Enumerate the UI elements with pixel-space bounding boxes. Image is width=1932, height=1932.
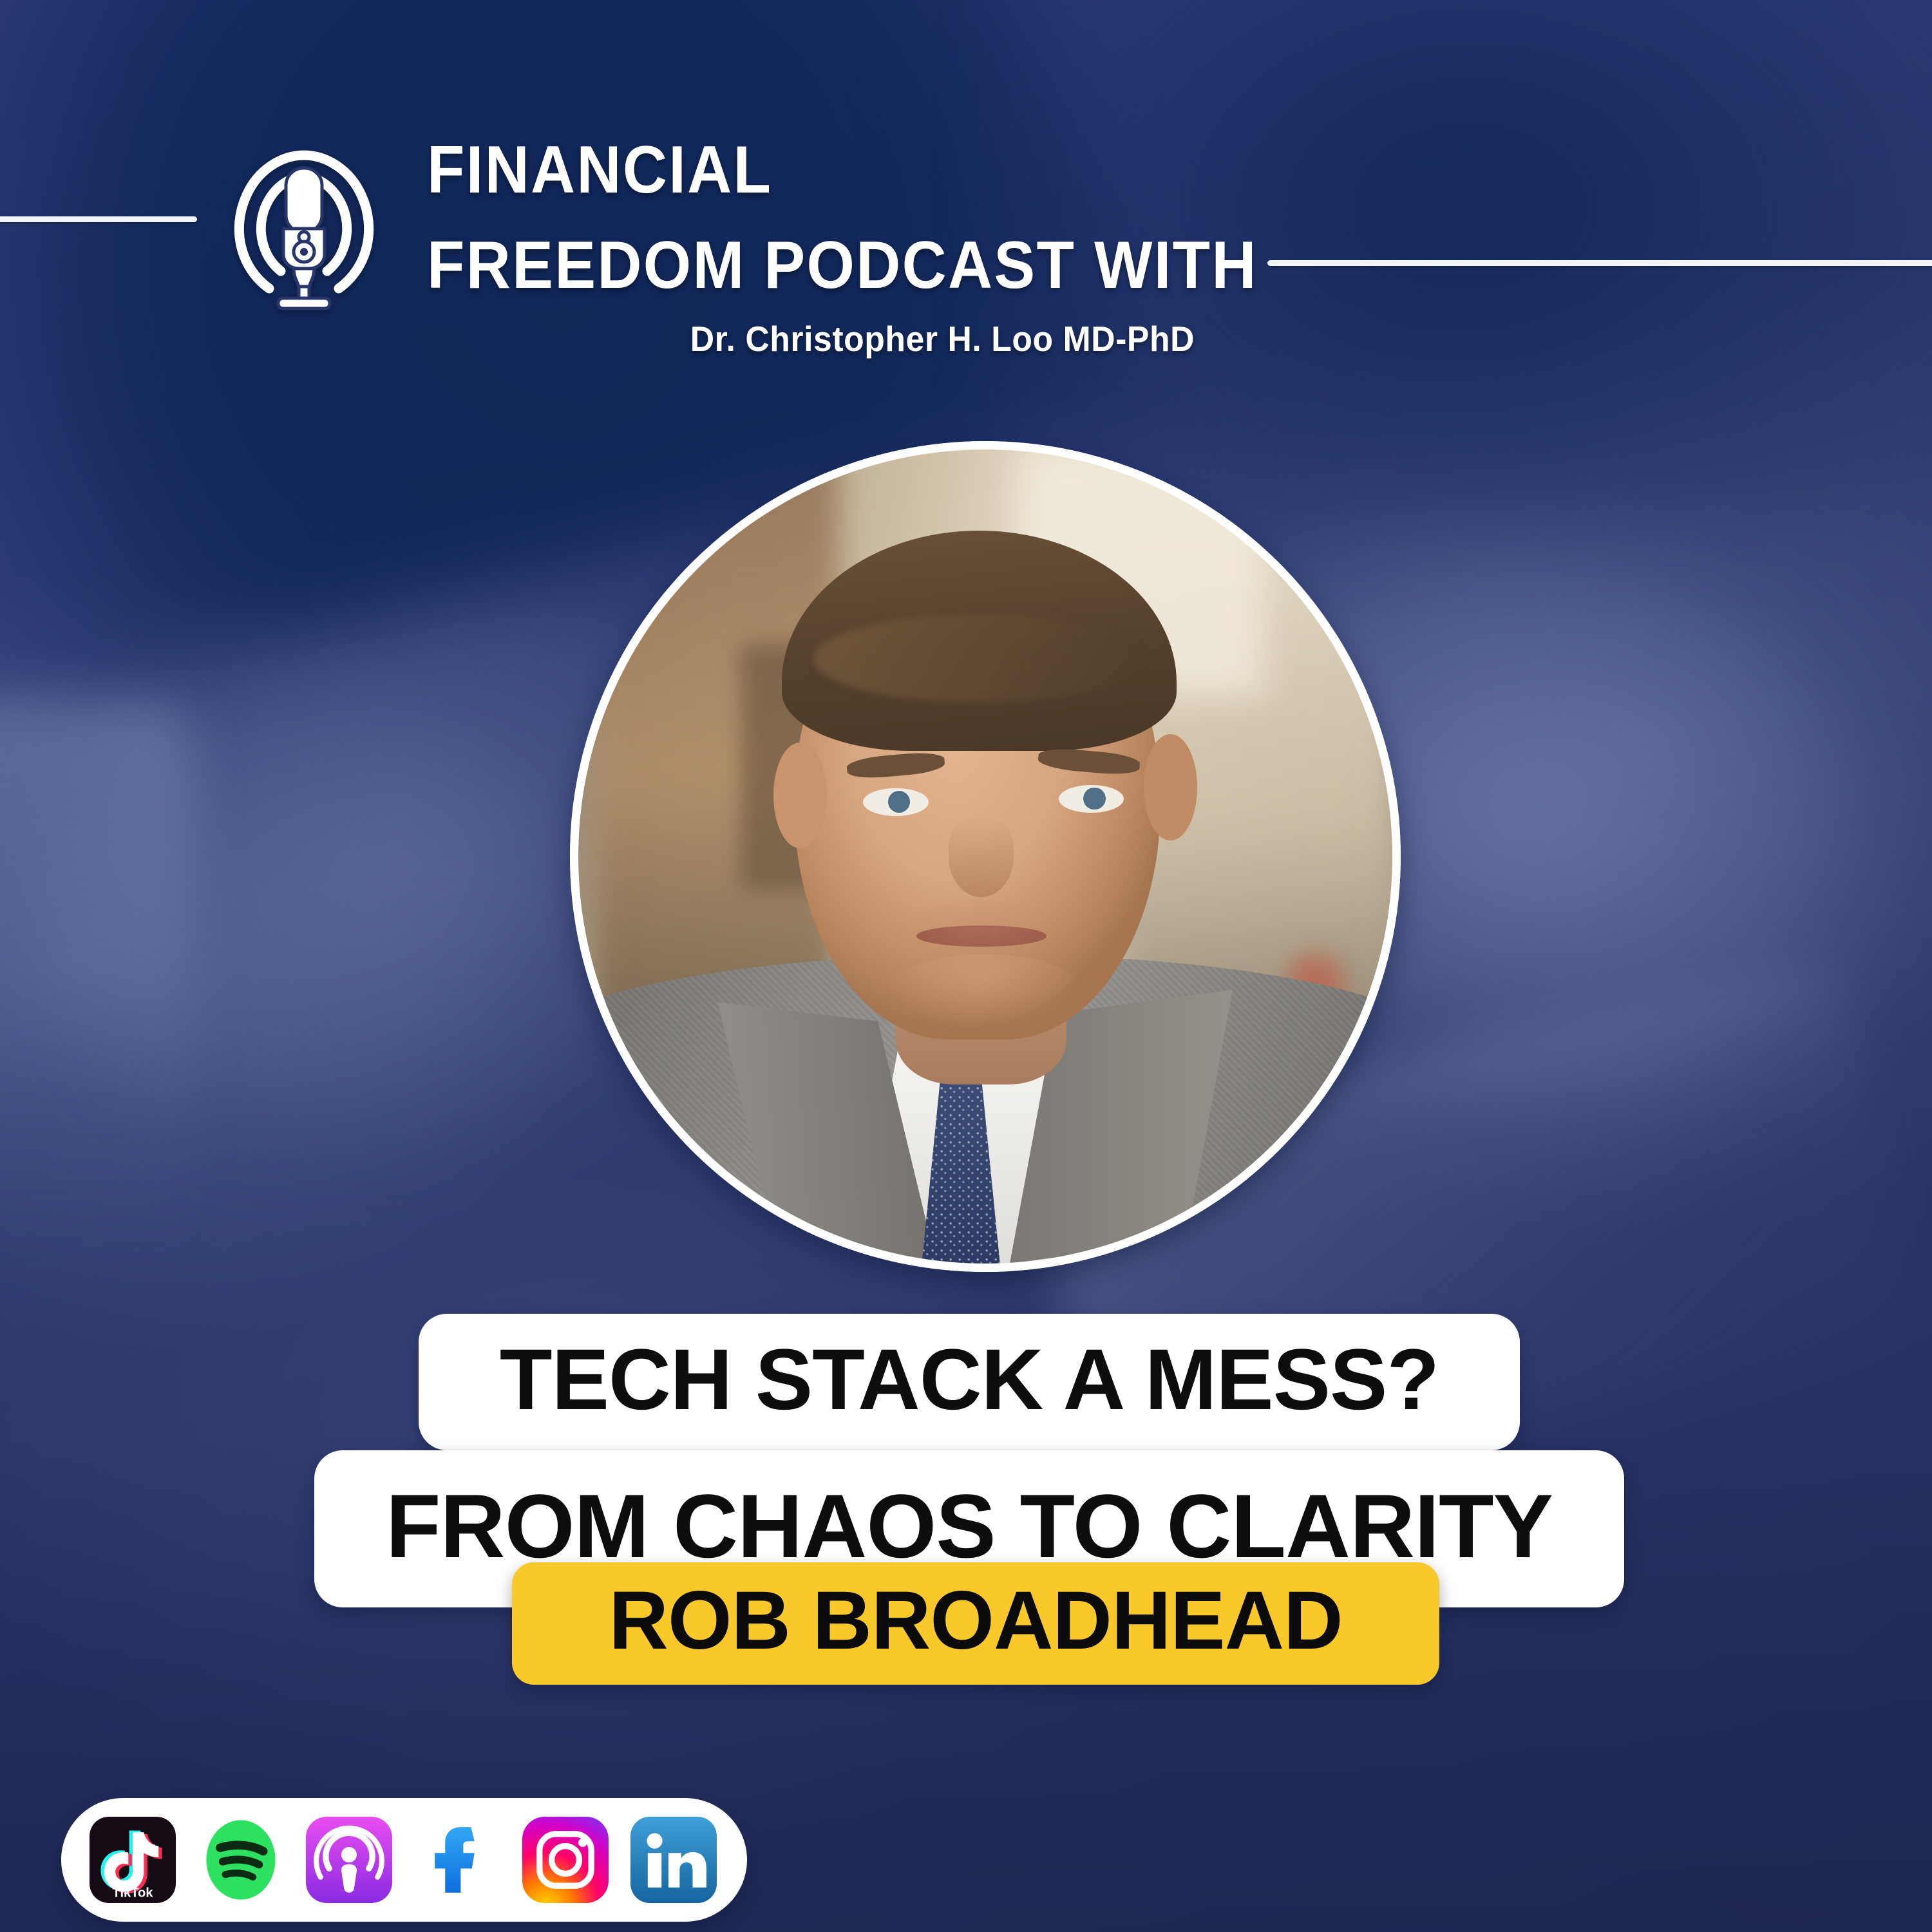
episode-title-line-1-text: TECH STACK A MESS? bbox=[500, 1331, 1439, 1429]
facebook-icon[interactable] bbox=[414, 1817, 500, 1903]
podcast-microphone-icon bbox=[227, 132, 381, 322]
instagram-icon[interactable] bbox=[522, 1817, 609, 1903]
photo-eye-right bbox=[1059, 785, 1124, 813]
episode-title-line-1: TECH STACK A MESS? bbox=[419, 1314, 1520, 1450]
podcast-cover-canvas: FINANCIAL FREEDOM PODCAST WITH Dr. Chris… bbox=[0, 0, 1932, 1932]
photo-chin bbox=[887, 954, 1083, 1028]
photo-ear-left bbox=[773, 743, 826, 848]
guest-photo bbox=[578, 450, 1392, 1264]
linkedin-icon[interactable] bbox=[630, 1817, 717, 1903]
guest-name-text: ROB BROADHEAD bbox=[609, 1573, 1343, 1668]
photo-mouth bbox=[916, 925, 1046, 947]
tiktok-icon[interactable]: TikTok bbox=[90, 1817, 176, 1903]
guest-portrait bbox=[570, 441, 1401, 1272]
photo-nose bbox=[949, 816, 1014, 897]
spotify-icon[interactable] bbox=[198, 1817, 284, 1903]
photo-eye-left bbox=[863, 788, 928, 816]
social-links-bar: TikTok bbox=[61, 1798, 747, 1922]
header-rule-left bbox=[0, 216, 197, 222]
host-name: Dr. Christopher H. Loo MD-PhD bbox=[473, 318, 1195, 359]
brand-line-2: FREEDOM PODCAST WITH bbox=[427, 232, 1316, 299]
svg-text:TikTok: TikTok bbox=[113, 1886, 154, 1900]
brand-block: FINANCIAL FREEDOM PODCAST WITH Dr. Chris… bbox=[427, 137, 1393, 359]
photo-ear-right bbox=[1144, 734, 1197, 840]
guest-name-badge: ROB BROADHEAD bbox=[512, 1562, 1439, 1685]
apple-podcasts-icon[interactable] bbox=[306, 1817, 392, 1903]
brand-line-1: FINANCIAL bbox=[427, 137, 1316, 204]
